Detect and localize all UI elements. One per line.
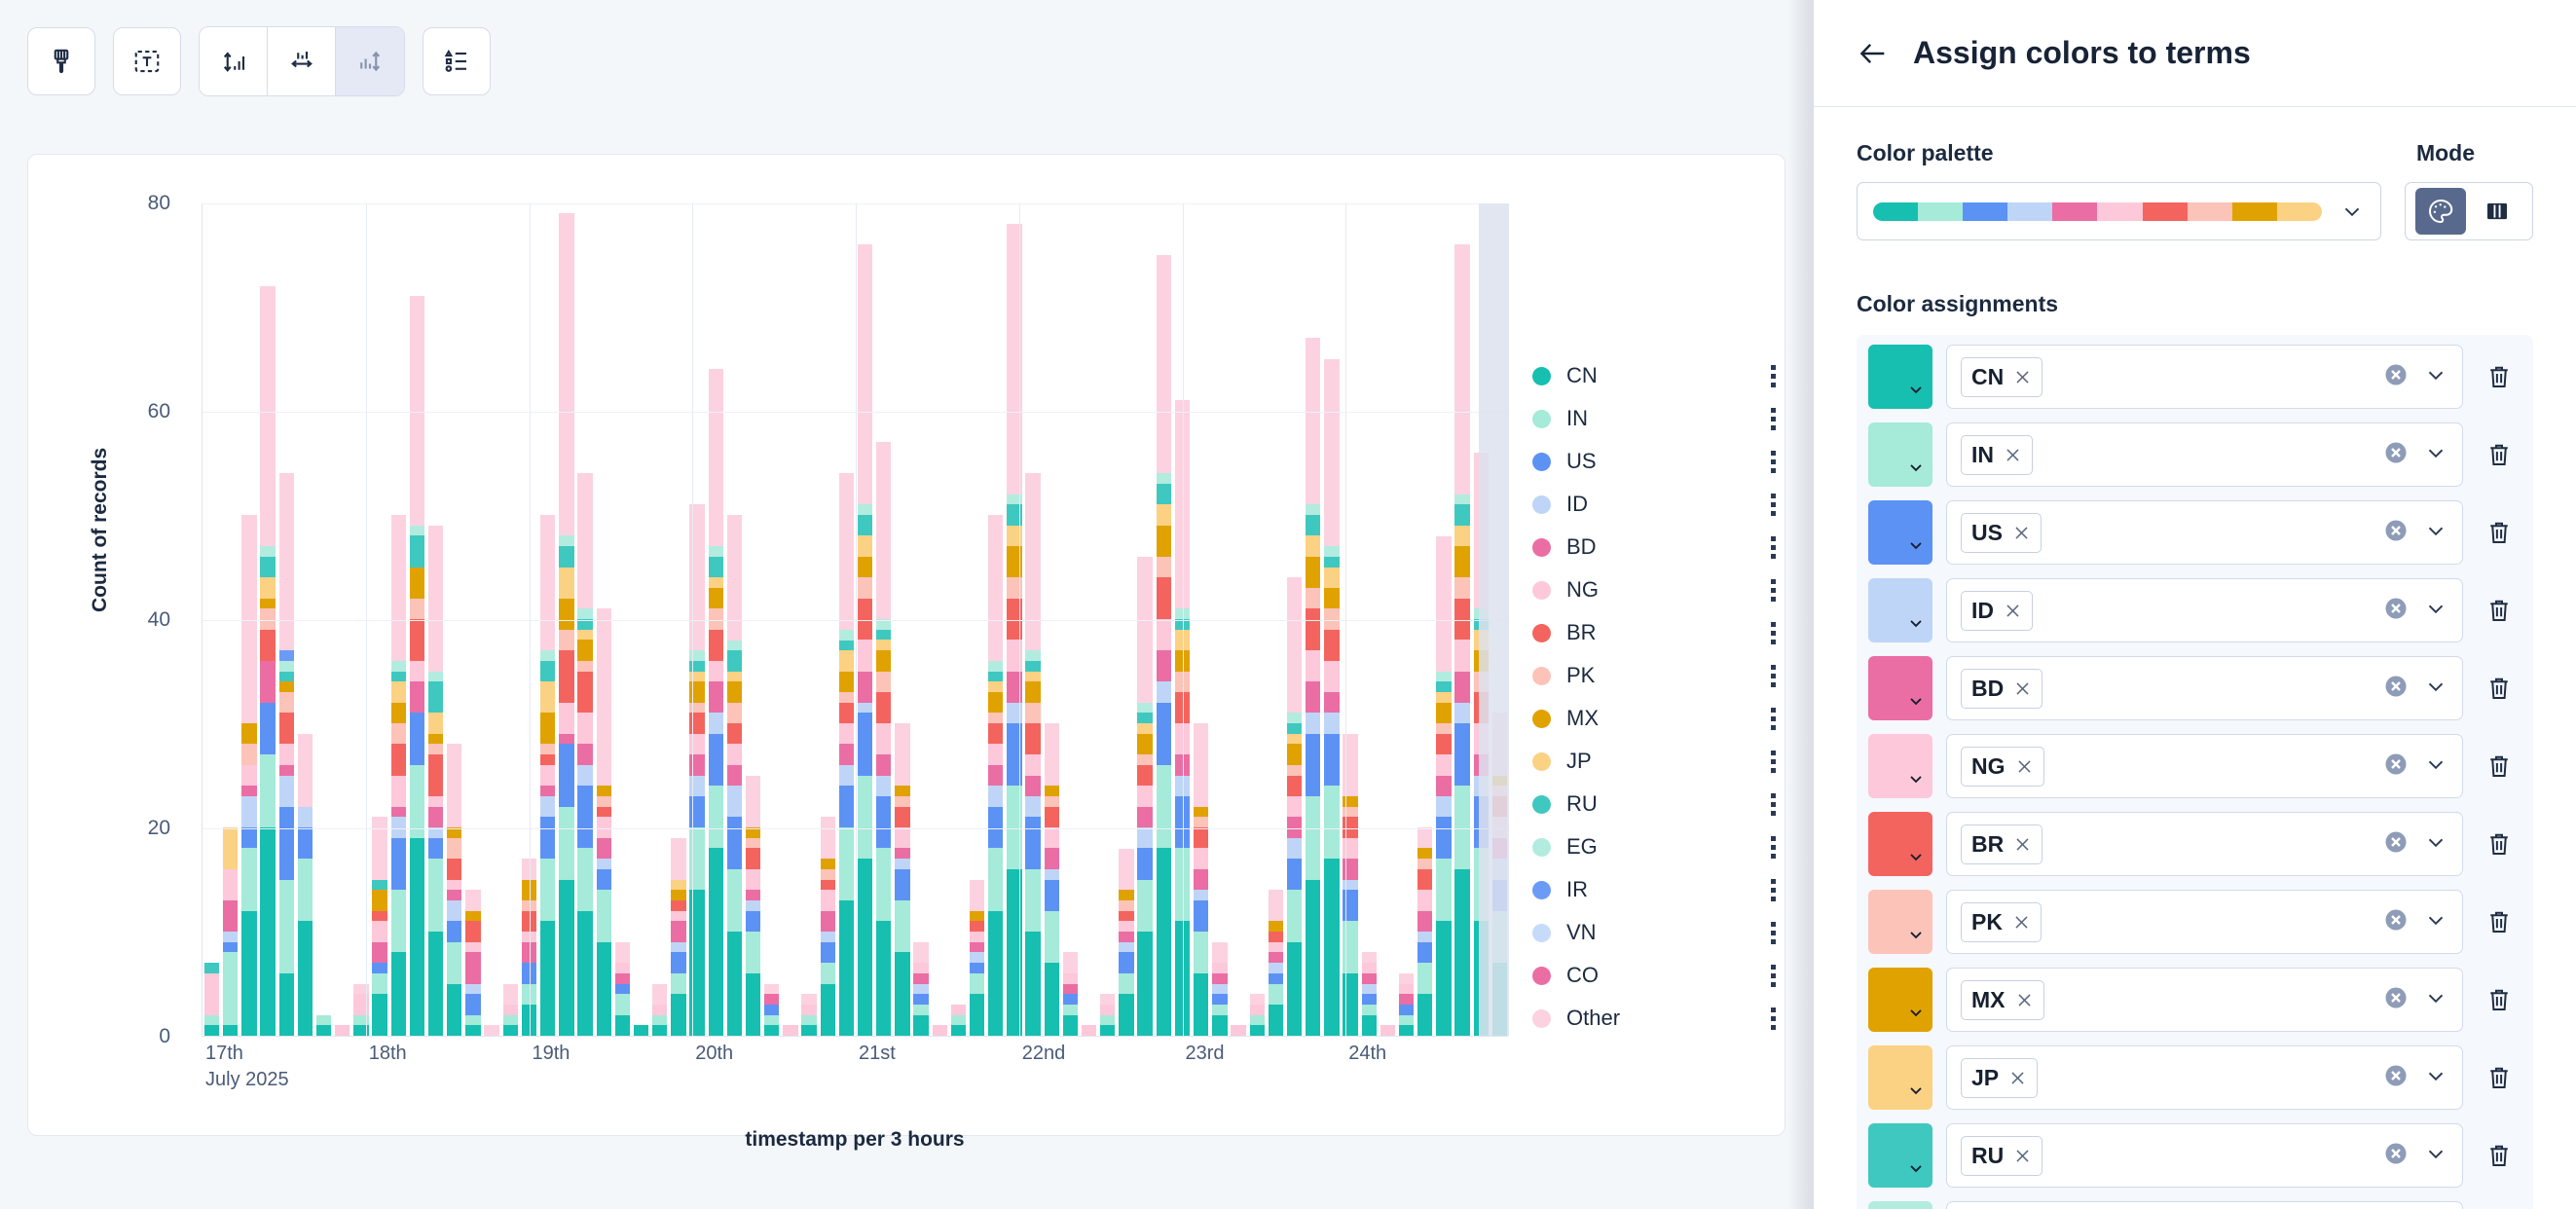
bar[interactable] [1100,994,1115,1036]
bar[interactable] [559,213,573,1036]
bar-segment[interactable] [597,859,611,869]
bar-segment[interactable] [1250,1015,1265,1026]
bar-segment[interactable] [727,786,742,817]
bar-segment[interactable] [709,577,723,588]
bar-segment[interactable] [260,754,275,827]
bar-segment[interactable] [577,473,592,608]
bar-segment[interactable] [913,1015,928,1036]
remove-term-icon[interactable] [2012,524,2031,542]
bar-segment[interactable] [764,1005,779,1015]
remove-term-icon[interactable] [2013,835,2032,854]
open-terms-dropdown-button[interactable] [2423,440,2448,470]
bar-segment[interactable] [577,713,592,744]
color-swatch-button[interactable] [1868,1123,1932,1188]
bar[interactable] [597,608,611,1036]
bar-segment[interactable] [1025,776,1040,796]
bar[interactable] [484,1025,498,1036]
bar-segment[interactable] [1157,681,1171,702]
bar-segment[interactable] [1194,807,1208,818]
legend-drag-handle-icon[interactable] [1771,922,1776,944]
bar-segment[interactable] [1137,807,1152,827]
bar[interactable] [615,942,630,1036]
bar[interactable] [876,442,891,1036]
bar-segment[interactable] [1137,827,1152,848]
bar-segment[interactable] [839,900,854,1036]
legend-drag-handle-icon[interactable] [1771,879,1776,901]
bar[interactable] [577,473,592,1036]
delete-assignment-button[interactable] [2477,596,2521,625]
bar-segment[interactable] [876,754,891,775]
bar-segment[interactable] [1269,942,1283,953]
bar-segment[interactable] [858,535,872,556]
bar-segment[interactable] [783,1025,797,1036]
bar-segment[interactable] [970,952,984,963]
bar-segment[interactable] [241,911,256,1036]
bar-segment[interactable] [764,1025,779,1036]
bar-segment[interactable] [764,994,779,1005]
bar-segment[interactable] [876,692,891,723]
term-combobox[interactable]: EG [1946,1201,2463,1209]
delete-assignment-button[interactable] [2477,985,2521,1014]
open-terms-dropdown-button[interactable] [2423,362,2448,392]
bar-segment[interactable] [895,869,909,900]
bar-segment[interactable] [970,880,984,911]
bar-segment[interactable] [895,952,909,1036]
legend-item-jp[interactable]: JP [1532,740,1776,783]
bar-segment[interactable] [876,796,891,849]
bar-segment[interactable] [988,692,1003,713]
bar-segment[interactable] [821,911,835,932]
bar-segment[interactable] [671,973,685,994]
bar-segment[interactable] [372,994,386,1036]
remove-term-icon[interactable] [2008,1069,2027,1087]
bar-segment[interactable] [1250,994,1265,1005]
bar-segment[interactable] [223,952,238,1025]
delete-assignment-button[interactable] [2477,829,2521,859]
bar[interactable] [540,515,555,1036]
bar-segment[interactable] [709,557,723,577]
bar-segment[interactable] [876,723,891,754]
bar-segment[interactable] [241,786,256,796]
bar-segment[interactable] [1324,359,1339,547]
bar-segment[interactable] [1306,557,1320,588]
bar-segment[interactable] [876,640,891,650]
bar-segment[interactable] [1119,973,1133,994]
bar-segment[interactable] [746,911,760,932]
term-combobox[interactable]: RU [1946,1123,2463,1188]
bar-segment[interactable] [895,807,909,827]
bar-segment[interactable] [577,608,592,619]
bar-segment[interactable] [391,661,406,672]
bar-segment[interactable] [1436,754,1451,775]
bar-segment[interactable] [1324,692,1339,713]
term-combobox[interactable]: BD [1946,656,2463,720]
bar-segment[interactable] [1287,859,1302,890]
bar-segment[interactable] [671,942,685,953]
bar-segment[interactable] [1157,765,1171,849]
bar-segment[interactable] [709,848,723,1036]
bar-segment[interactable] [447,942,461,984]
bar[interactable] [709,369,723,1036]
bar-segment[interactable] [1137,557,1152,703]
remove-term-icon[interactable] [2015,757,2034,776]
term-combobox[interactable]: MX [1946,968,2463,1032]
bar[interactable] [801,994,816,1036]
open-terms-dropdown-button[interactable] [2423,829,2448,860]
bar-segment[interactable] [540,786,555,796]
bar-segment[interactable] [391,681,406,702]
clear-terms-button[interactable] [2382,1062,2410,1094]
bar-segment[interactable] [1025,932,1040,1036]
bar-segment[interactable] [372,921,386,941]
bar-segment[interactable] [279,880,294,973]
bar-segment[interactable] [503,1015,518,1026]
bar-segment[interactable] [913,994,928,1005]
bar-segment[interactable] [410,568,424,599]
bar-segment[interactable] [279,681,294,692]
bar-segment[interactable] [1454,504,1469,525]
bar-segment[interactable] [559,599,573,630]
bar-segment[interactable] [279,672,294,682]
bar-segment[interactable] [241,848,256,910]
bar-segment[interactable] [1157,650,1171,681]
bar-segment[interactable] [913,973,928,984]
bar-segment[interactable] [298,859,313,921]
bar[interactable] [1119,849,1133,1037]
bar-segment[interactable] [1269,952,1283,963]
bar[interactable] [764,984,779,1036]
bar-segment[interactable] [1119,994,1133,1036]
bar-segment[interactable] [1157,255,1171,474]
bar[interactable] [391,515,406,1036]
bar-segment[interactable] [652,1005,667,1015]
bar-segment[interactable] [540,744,555,754]
bar-segment[interactable] [895,796,909,807]
bar-segment[interactable] [1324,734,1339,787]
term-combobox[interactable]: NG [1946,734,2463,798]
legend-item-ir[interactable]: IR [1532,868,1776,911]
bar-segment[interactable] [876,921,891,1036]
bar-segment[interactable] [279,765,294,776]
bar-segment[interactable] [1269,973,1283,984]
bar-segment[interactable] [540,859,555,921]
bar-segment[interactable] [988,765,1003,786]
bar-segment[interactable] [709,588,723,608]
bar-segment[interactable] [801,1005,816,1015]
legend-drag-handle-icon[interactable] [1771,536,1776,559]
remove-term-icon[interactable] [2012,913,2031,932]
bar-segment[interactable] [1100,1025,1115,1036]
bar-segment[interactable] [1306,796,1320,880]
clear-terms-button[interactable] [2382,984,2410,1016]
color-swatch-button[interactable] [1868,890,1932,954]
bar-segment[interactable] [727,744,742,764]
bar-segment[interactable] [540,921,555,1036]
remove-term-icon[interactable] [2013,679,2032,698]
bar-segment[interactable] [727,765,742,786]
bar-segment[interactable] [1157,703,1171,765]
bar-segment[interactable] [1212,994,1227,1005]
delete-assignment-button[interactable] [2477,907,2521,936]
bar-segment[interactable] [223,827,238,869]
bar-segment[interactable] [428,932,443,1036]
bar-segment[interactable] [895,723,909,786]
bar-segment[interactable] [577,848,592,910]
bar-segment[interactable] [988,786,1003,806]
bar-segment[interactable] [279,744,294,764]
bar-segment[interactable] [1157,484,1171,504]
bar-segment[interactable] [671,952,685,972]
bar-segment[interactable] [1045,786,1059,796]
bar-segment[interactable] [1194,817,1208,827]
bar-segment[interactable] [1417,827,1432,848]
bar-segment[interactable] [372,973,386,994]
open-terms-dropdown-button[interactable] [2423,518,2448,548]
bar-segment[interactable] [1436,796,1451,817]
color-swatch-button[interactable] [1868,1045,1932,1110]
bar-segment[interactable] [223,942,238,953]
bar-segment[interactable] [204,963,219,973]
bar-segment[interactable] [1045,827,1059,848]
bar-segment[interactable] [1306,880,1320,1037]
bar-segment[interactable] [671,911,685,922]
bar-segment[interactable] [727,723,742,744]
bar-segment[interactable] [279,807,294,880]
bar-segment[interactable] [391,723,406,744]
bar-segment[interactable] [821,963,835,983]
term-combobox[interactable]: BR [1946,812,2463,876]
bar-segment[interactable] [1399,1015,1414,1026]
bar-segment[interactable] [1306,650,1320,681]
delete-assignment-button[interactable] [2477,1141,2521,1170]
bar-segment[interactable] [671,994,685,1036]
color-swatch-button[interactable] [1868,734,1932,798]
bar-segment[interactable] [410,681,424,713]
bar-segment[interactable] [447,880,461,891]
legend-item-eg[interactable]: EG [1532,825,1776,868]
bar-segment[interactable] [428,526,443,672]
palette-mode-button[interactable] [2415,188,2466,235]
bar-segment[interactable] [428,681,443,713]
bar-segment[interactable] [839,630,854,641]
bar-segment[interactable] [465,942,480,953]
bar[interactable] [933,1025,947,1036]
bar[interactable] [634,1025,648,1036]
bar[interactable] [821,817,835,1036]
bar-segment[interactable] [298,734,313,807]
bar[interactable] [951,1005,966,1036]
bar-segment[interactable] [447,900,461,921]
horizontal-axis-button[interactable] [268,27,336,95]
bar-segment[interactable] [1025,681,1040,702]
bar-segment[interactable] [1324,661,1339,692]
bar-segment[interactable] [746,900,760,911]
term-combobox[interactable]: PK [1946,890,2463,954]
bar-segment[interactable] [540,661,555,681]
bar-segment[interactable] [1119,890,1133,900]
bar-segment[interactable] [988,672,1003,682]
bar-segment[interactable] [577,672,592,714]
bar-segment[interactable] [858,776,872,860]
bar-segment[interactable] [447,859,461,879]
bar-segment[interactable] [597,942,611,1036]
bar-segment[interactable] [1157,619,1171,650]
bar-segment[interactable] [503,1025,518,1036]
bar-segment[interactable] [1025,672,1040,682]
bar-segment[interactable] [1250,1005,1265,1015]
bar-segment[interactable] [746,932,760,973]
bar-segment[interactable] [391,890,406,952]
bar-segment[interactable] [1436,859,1451,921]
legend-item-br[interactable]: BR [1532,611,1776,654]
bar-segment[interactable] [1212,984,1227,995]
bar-segment[interactable] [447,744,461,827]
bar-segment[interactable] [1306,588,1320,608]
bar[interactable] [783,1025,797,1036]
bar-segment[interactable] [559,546,573,567]
bar-segment[interactable] [1287,942,1302,1036]
bar-segment[interactable] [1100,994,1115,1005]
bar-segment[interactable] [1324,713,1339,733]
bar[interactable] [1212,942,1227,1036]
bar[interactable] [410,296,424,1036]
bar-segment[interactable] [821,859,835,869]
bar-segment[interactable] [1063,984,1078,995]
bar-segment[interactable] [839,744,854,764]
bar-segment[interactable] [410,599,424,619]
bar-segment[interactable] [727,672,742,682]
bar-segment[interactable] [1362,1015,1377,1036]
bar-segment[interactable] [839,641,854,651]
bar-segment[interactable] [1324,557,1339,568]
bar-segment[interactable] [428,796,443,807]
legend-drag-handle-icon[interactable] [1771,793,1776,816]
bar-segment[interactable] [391,776,406,807]
bar-segment[interactable] [1436,536,1451,672]
bar-segment[interactable] [316,1025,331,1036]
bar-segment[interactable] [615,1015,630,1036]
bar-segment[interactable] [709,630,723,661]
bar-segment[interactable] [1324,568,1339,588]
bar[interactable] [1362,952,1377,1036]
bar-segment[interactable] [1306,515,1320,535]
legend-item-pk[interactable]: PK [1532,654,1776,697]
bar-segment[interactable] [260,703,275,755]
bar-segment[interactable] [988,713,1003,723]
bar-segment[interactable] [503,984,518,1005]
bar-segment[interactable] [746,838,760,849]
bar-segment[interactable] [465,994,480,1014]
bar-segment[interactable] [858,672,872,703]
bar-segment[interactable] [372,880,386,891]
bar-segment[interactable] [858,504,872,515]
open-terms-dropdown-button[interactable] [2423,1063,2448,1093]
bar-segment[interactable] [988,723,1003,744]
bar-segment[interactable] [1436,672,1451,682]
bar-segment[interactable] [1454,244,1469,495]
legend-item-us[interactable]: US [1532,440,1776,483]
bar-segment[interactable] [241,796,256,827]
bar-segment[interactable] [465,921,480,941]
bar-segment[interactable] [727,650,742,671]
clear-terms-button[interactable] [2382,751,2410,783]
color-swatch-button[interactable] [1868,422,1932,487]
bar-segment[interactable] [1362,973,1377,984]
bar-segment[interactable] [970,921,984,932]
bar-segment[interactable] [1399,984,1414,995]
bar-segment[interactable] [223,869,238,900]
bar-segment[interactable] [204,1025,219,1036]
bar-segment[interactable] [1417,869,1432,890]
bar-segment[interactable] [895,827,909,848]
bar-segment[interactable] [279,661,294,672]
bar[interactable] [1082,1025,1096,1036]
bar-segment[interactable] [821,942,835,963]
bar-segment[interactable] [988,848,1003,910]
bar-segment[interactable] [1454,869,1469,1036]
bar-segment[interactable] [1436,703,1451,723]
bar[interactable] [335,1025,350,1036]
bar-segment[interactable] [1250,1025,1265,1036]
bar-segment[interactable] [876,650,891,671]
term-combobox[interactable]: ID [1946,578,2463,642]
bar-segment[interactable] [615,973,630,984]
bar-segment[interactable] [1269,1005,1283,1036]
bar-segment[interactable] [597,838,611,859]
color-swatch-button[interactable] [1868,345,1932,409]
legend-drag-handle-icon[interactable] [1771,836,1776,859]
bar-segment[interactable] [1137,786,1152,806]
bar-segment[interactable] [876,848,891,921]
stacked-axis-button[interactable] [336,27,404,95]
bar-segment[interactable] [839,692,854,703]
bar-segment[interactable] [876,442,891,619]
delete-assignment-button[interactable] [2477,362,2521,391]
bar-segment[interactable] [1417,911,1432,932]
bar-segment[interactable] [1025,723,1040,754]
bar-segment[interactable] [335,1025,350,1036]
bar-segment[interactable] [428,807,443,827]
bar-segment[interactable] [709,369,723,546]
bar-segment[interactable] [1045,723,1059,786]
bar-segment[interactable] [821,932,835,942]
bar-segment[interactable] [1212,963,1227,973]
bar[interactable] [1063,952,1078,1036]
bar-segment[interactable] [1306,504,1320,515]
bar-segment[interactable] [223,932,238,942]
bar[interactable] [503,984,518,1036]
bar[interactable] [1399,973,1414,1036]
bar-segment[interactable] [671,890,685,900]
bar-segment[interactable] [1324,859,1339,1036]
bar-segment[interactable] [559,744,573,806]
bar-segment[interactable] [727,869,742,932]
bar-segment[interactable] [1287,838,1302,859]
bar-segment[interactable] [279,473,294,650]
bar-segment[interactable] [1287,734,1302,745]
bar-segment[interactable] [1194,890,1208,900]
bar-segment[interactable] [858,859,872,1036]
bar-segment[interactable] [801,1025,816,1036]
bar-segment[interactable] [241,827,256,848]
bar-segment[interactable] [709,713,723,733]
clear-terms-button[interactable] [2382,517,2410,549]
bar-segment[interactable] [391,703,406,723]
clear-terms-button[interactable] [2382,361,2410,393]
bar-segment[interactable] [895,786,909,796]
bar-segment[interactable] [709,734,723,787]
delete-assignment-button[interactable] [2477,751,2521,781]
